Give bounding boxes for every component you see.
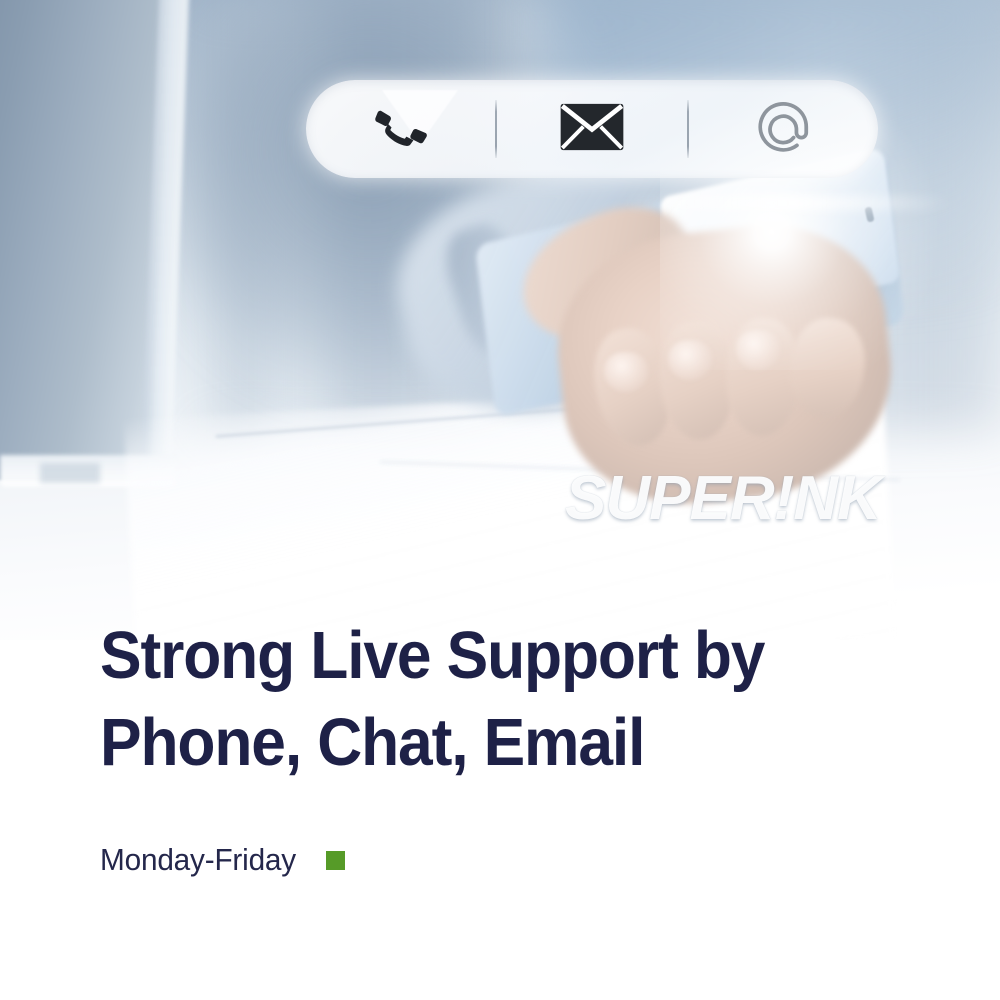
contact-option-email[interactable] [497, 80, 686, 178]
envelope-icon [559, 101, 625, 158]
fingernail [604, 352, 648, 392]
contact-option-at[interactable] [689, 80, 878, 178]
hero-photo: SUPER!NK [0, 0, 1000, 640]
superink-watermark: SUPER!NK [565, 463, 881, 534]
subtitle-row: Monday-Friday [100, 842, 920, 878]
promo-banner: SUPER!NK Strong Live Support by Phone, C… [0, 0, 1000, 1000]
phone-icon [372, 98, 430, 161]
laptop-foot-notch [40, 463, 100, 483]
page-title: Strong Live Support by Phone, Chat, Emai… [100, 612, 863, 786]
headline-line-1: Strong Live Support by [100, 612, 863, 699]
accent-square [326, 851, 345, 870]
fingernail [668, 340, 712, 380]
contact-option-phone[interactable] [306, 80, 495, 178]
at-sign-icon [752, 96, 814, 163]
copy-block: Strong Live Support by Phone, Chat, Emai… [100, 612, 920, 878]
contact-methods-pill[interactable] [306, 80, 878, 178]
availability-label: Monday-Friday [100, 842, 296, 878]
headline-line-2: Phone, Chat, Email [100, 699, 863, 786]
pill-icon-row [306, 80, 878, 178]
fingernail [736, 330, 780, 370]
